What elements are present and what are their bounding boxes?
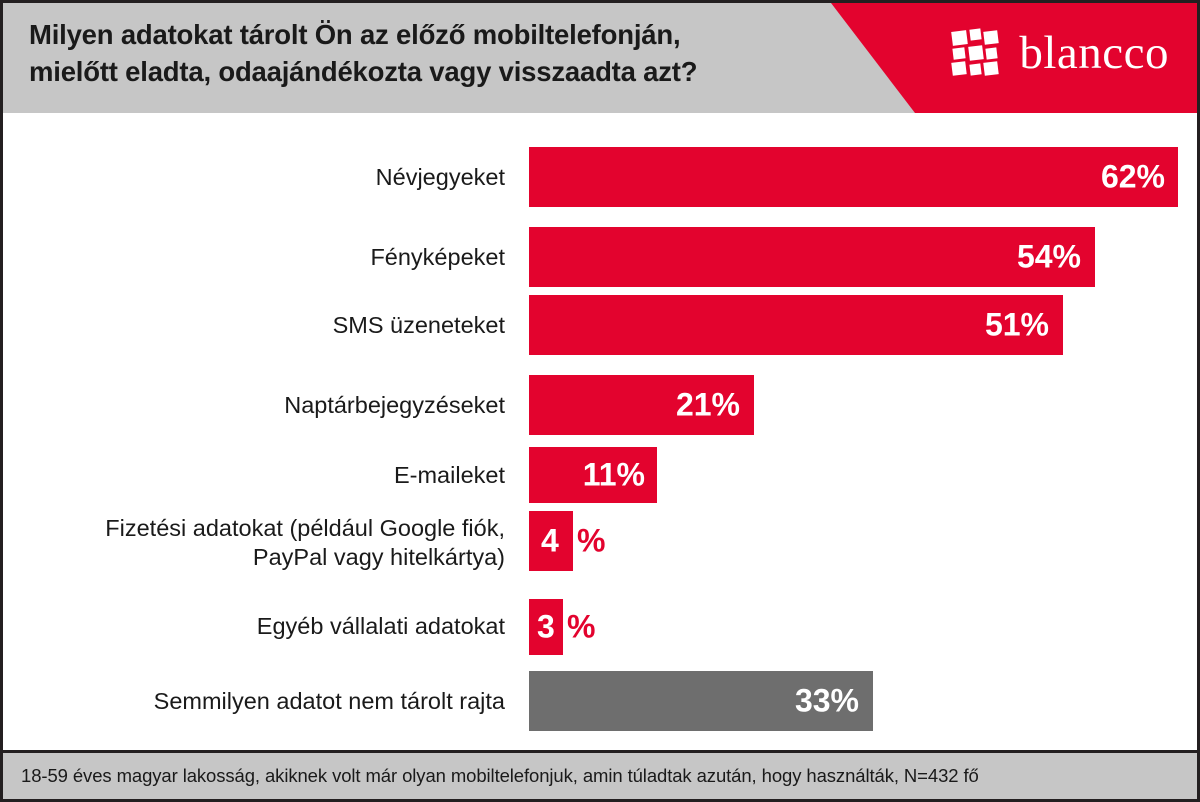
- bar-value-number: 4: [541, 523, 559, 560]
- bar-label-line: Egyéb vállalati adatokat: [25, 612, 505, 641]
- bar-label-line: Naptárbejegyzéseket: [25, 391, 505, 420]
- bar-fill[interactable]: [529, 147, 1178, 207]
- bar-track: 21%: [529, 375, 754, 435]
- bar-label: Naptárbejegyzéseket: [25, 391, 505, 420]
- bar-row: Semmilyen adatot nem tárolt rajta 33%: [3, 671, 1200, 731]
- bar-label: Egyéb vállalati adatokat: [25, 612, 505, 641]
- bar-value-label: 33%: [795, 683, 859, 720]
- bar-track: 4 %: [529, 511, 649, 571]
- bar-label-line: Névjegyeket: [25, 163, 505, 192]
- bar-track: 3 %: [529, 599, 649, 655]
- bar-track: 51%: [529, 295, 1063, 355]
- bar-label-line: SMS üzeneteket: [25, 311, 505, 340]
- bar-chart: Névjegyeket 62% Fényképeket 54% SMS üzen…: [3, 113, 1200, 750]
- bar-label: Semmilyen adatot nem tárolt rajta: [25, 687, 505, 716]
- brand-logo[interactable]: blancco: [951, 29, 1169, 77]
- bar-track: 62%: [529, 147, 1179, 207]
- bar-label-line: E-maileket: [25, 461, 505, 490]
- header-banner: Milyen adatokat tárolt Ön az előző mobil…: [3, 3, 1200, 113]
- bar-value-percent-sign: %: [577, 523, 605, 560]
- bar-value-label: 62%: [1101, 159, 1165, 196]
- bar-label: Fényképeket: [25, 243, 505, 272]
- bar-row: E-maileket 11%: [3, 447, 1200, 503]
- footer-note: 18-59 éves magyar lakosság, akiknek volt…: [21, 765, 979, 787]
- bar-track: 33%: [529, 671, 873, 731]
- page-title: Milyen adatokat tárolt Ön az előző mobil…: [29, 17, 829, 90]
- bar-track: 54%: [529, 227, 1095, 287]
- bar-value-label: 21%: [676, 387, 740, 424]
- bar-label: Névjegyeket: [25, 163, 505, 192]
- bar-value-label: 51%: [985, 307, 1049, 344]
- brand-wordmark: blancco: [1019, 30, 1169, 77]
- bar-label-line: Fényképeket: [25, 243, 505, 272]
- page-title-line-2: mielőtt eladta, odaajándékozta vagy viss…: [29, 54, 829, 91]
- bar-value-number: 3: [537, 609, 555, 646]
- bar-fill[interactable]: [529, 227, 1095, 287]
- bar-fill[interactable]: [529, 295, 1063, 355]
- bar-label: SMS üzeneteket: [25, 311, 505, 340]
- bar-label-line: PayPal vagy hitelkártya): [25, 543, 505, 572]
- bar-label: E-maileket: [25, 461, 505, 490]
- bar-value-label: 54%: [1017, 239, 1081, 276]
- footer-note-bar: 18-59 éves magyar lakosság, akiknek volt…: [3, 750, 1200, 799]
- page-title-line-1: Milyen adatokat tárolt Ön az előző mobil…: [29, 17, 829, 54]
- bar-row: Egyéb vállalati adatokat 3 %: [3, 599, 1200, 655]
- bar-row: Fizetési adatokat (például Google fiók, …: [3, 511, 1200, 571]
- bar-value-percent-sign: %: [567, 609, 595, 646]
- bar-track: 11%: [529, 447, 657, 503]
- bar-label-line: Semmilyen adatot nem tárolt rajta: [25, 687, 505, 716]
- bar-value-label: 11%: [583, 457, 645, 494]
- bar-label-line: Fizetési adatokat (például Google fiók,: [25, 514, 505, 543]
- bar-row: SMS üzeneteket 51%: [3, 295, 1200, 355]
- bar-label: Fizetési adatokat (például Google fiók, …: [25, 514, 505, 572]
- infographic-root: Milyen adatokat tárolt Ön az előző mobil…: [0, 0, 1200, 802]
- bar-row: Névjegyeket 62%: [3, 147, 1200, 207]
- bar-row: Fényképeket 54%: [3, 227, 1200, 287]
- blancco-squares-icon: [951, 29, 1001, 77]
- bar-row: Naptárbejegyzéseket 21%: [3, 375, 1200, 435]
